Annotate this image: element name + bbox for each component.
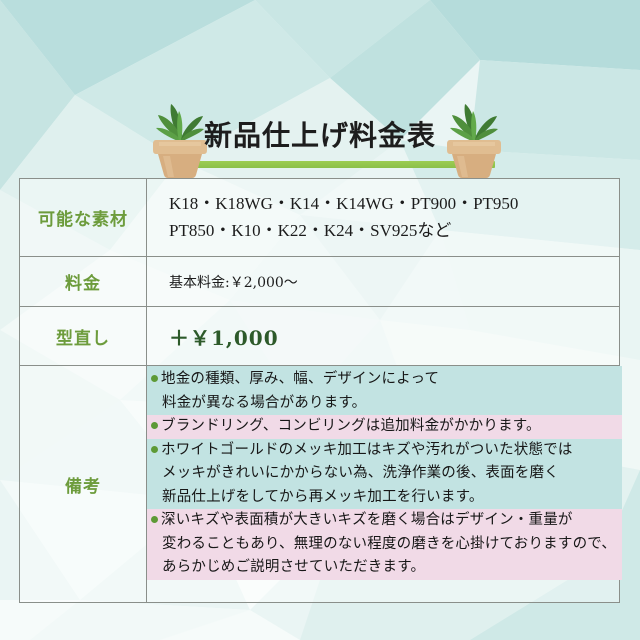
materials-line-1: K18・K18WG・K14・K14WG・PT900・PT950 — [169, 191, 619, 217]
pricing-table: 可能な素材 K18・K18WG・K14・K14WG・PT900・PT950 PT… — [19, 178, 620, 603]
row-label-remarks: 備考 — [20, 366, 147, 602]
remark-line: 新品仕上げをしてから再メッキ加工を行います。 — [151, 486, 616, 510]
row-value-materials: K18・K18WG・K14・K14WG・PT900・PT950 PT850・K1… — [147, 179, 619, 256]
table-row-fee: 料金 基本料金:￥2,000～ — [20, 257, 619, 307]
row-value-remarks: 地金の種類、厚み、幅、デザインによって 料金が異なる場合があります。 ブランドリ… — [147, 366, 622, 602]
remark-band-1: 地金の種類、厚み、幅、デザインによって 料金が異なる場合があります。 — [147, 366, 622, 415]
bullet-icon — [151, 375, 158, 382]
row-value-reshape: ＋￥1,000 — [147, 307, 619, 365]
table-row-reshape: 型直し ＋￥1,000 — [20, 307, 619, 366]
price-table-page: 新品仕上げ料金表 可能な素材 K18・K18WG・K14・K14WG・PT900… — [0, 0, 640, 640]
remark-band-3: ホワイトゴールドのメッキ加工はキズや汚れがついた状態では メッキがきれいにかから… — [147, 439, 622, 510]
row-value-fee: 基本料金:￥2,000～ — [147, 257, 619, 306]
remark-line: ホワイトゴールドのメッキ加工はキズや汚れがついた状態では — [151, 439, 616, 463]
remark-line: ブランドリング、コンビリングは追加料金がかかります。 — [151, 415, 616, 439]
bullet-icon — [151, 446, 158, 453]
remark-line: メッキがきれいにかからない為、洗浄作業の後、表面を磨く — [151, 462, 616, 486]
remark-line: 深いキズや表面積が大きいキズを磨く場合はデザイン・重量が — [151, 509, 616, 533]
reshape-amount: ＋￥1,000 — [147, 322, 619, 351]
remark-line: 料金が異なる場合があります。 — [151, 392, 616, 416]
materials-line-2: PT850・K10・K22・K24・SV925など — [169, 218, 619, 244]
bullet-icon — [151, 422, 158, 429]
page-header: 新品仕上げ料金表 — [0, 48, 640, 140]
remark-line: 地金の種類、厚み、幅、デザインによって — [151, 368, 616, 392]
remark-line: 変わることもあり、無理のない程度の磨きを心掛けておりますので、 — [151, 533, 616, 557]
row-label-reshape: 型直し — [20, 307, 147, 365]
row-label-fee: 料金 — [20, 257, 147, 306]
table-row-materials: 可能な素材 K18・K18WG・K14・K14WG・PT900・PT950 PT… — [20, 179, 619, 257]
remark-band-2: ブランドリング、コンビリングは追加料金がかかります。 — [147, 415, 622, 439]
remark-line: あらかじめご説明させていただきます。 — [151, 556, 616, 580]
fee-amount: 基本料金:￥2,000～ — [147, 272, 619, 292]
row-label-materials: 可能な素材 — [20, 179, 147, 256]
table-row-remarks: 備考 地金の種類、厚み、幅、デザインによって 料金が異なる場合があります。 ブラ… — [20, 366, 619, 602]
bullet-icon — [151, 516, 158, 523]
remark-band-4: 深いキズや表面積が大きいキズを磨く場合はデザイン・重量が 変わることもあり、無理… — [147, 509, 622, 580]
page-title: 新品仕上げ料金表 — [0, 122, 640, 150]
